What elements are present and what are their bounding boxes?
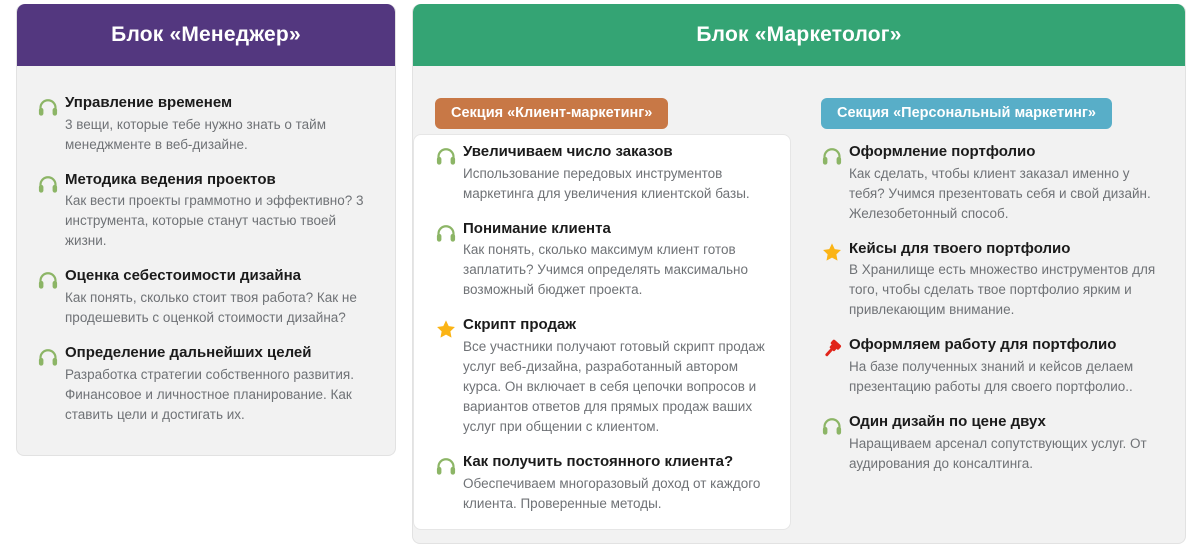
headphones-icon bbox=[435, 145, 463, 167]
lesson-item: Понимание клиентаКак понять, сколько мак… bbox=[435, 220, 775, 301]
headphones-icon bbox=[435, 222, 463, 244]
lesson-text: Кейсы для твоего портфолиоВ Хранилище ес… bbox=[849, 240, 1161, 321]
marketer-block-header: Блок «Маркетолог» bbox=[413, 4, 1185, 66]
lesson-item: Как получить постоянного клиента?Обеспеч… bbox=[435, 453, 775, 514]
lesson-text: Как получить постоянного клиента?Обеспеч… bbox=[463, 453, 775, 514]
lesson-text: Определение дальнейших целейРазработка с… bbox=[65, 344, 373, 425]
lesson-text: Управление временем3 вещи, которые тебе … bbox=[65, 94, 373, 155]
section-tag-personal-marketing[interactable]: Секция «Персональный маркетинг» bbox=[821, 98, 1112, 129]
pin-icon bbox=[821, 338, 849, 360]
lesson-item: Методика ведения проектовКак вести проек… bbox=[37, 171, 373, 252]
lesson-description: Использование передовых инструментов мар… bbox=[463, 164, 775, 204]
headphones-icon bbox=[37, 96, 65, 118]
lesson-description: 3 вещи, которые тебе нужно знать о тайм … bbox=[65, 115, 373, 155]
lesson-text: Оценка себестоимости дизайнаКак понять, … bbox=[65, 267, 373, 328]
lesson-item: Оформление портфолиоКак сделать, чтобы к… bbox=[821, 143, 1161, 224]
lesson-title: Один дизайн по цене двух bbox=[849, 413, 1161, 432]
lesson-description: Как сделать, чтобы клиент заказал именно… bbox=[849, 164, 1161, 224]
lesson-description: В Хранилище есть множество инструментов … bbox=[849, 260, 1161, 320]
manager-block: Блок «Менеджер» Управление временем3 вещ… bbox=[16, 4, 396, 456]
headphones-icon bbox=[821, 145, 849, 167]
lesson-item: Увеличиваем число заказовИспользование п… bbox=[435, 143, 775, 204]
section-personal-marketing: Секция «Персональный маркетинг» Оформлен… bbox=[799, 76, 1185, 488]
lesson-description: Как вести проекты граммотно и эффективно… bbox=[65, 191, 373, 251]
personal-marketing-lesson-list: Оформление портфолиоКак сделать, чтобы к… bbox=[799, 129, 1185, 488]
headphones-icon bbox=[37, 173, 65, 195]
lesson-item: Скрипт продажВсе участники получают гото… bbox=[435, 316, 775, 437]
lesson-title: Определение дальнейших целей bbox=[65, 344, 373, 363]
marketer-block: Блок «Маркетолог» Секция «Клиент-маркети… bbox=[412, 4, 1186, 544]
lesson-item: Один дизайн по цене двухНаращиваем арсен… bbox=[821, 413, 1161, 474]
lesson-description: На базе полученных знаний и кейсов делае… bbox=[849, 357, 1161, 397]
lesson-title: Скрипт продаж bbox=[463, 316, 775, 335]
manager-lesson-list: Управление временем3 вещи, которые тебе … bbox=[17, 76, 395, 439]
star-icon bbox=[435, 318, 463, 340]
lesson-title: Как получить постоянного клиента? bbox=[463, 453, 775, 472]
lesson-title: Оформление портфолио bbox=[849, 143, 1161, 162]
lesson-description: Как понять, сколько максимум клиент гото… bbox=[463, 240, 775, 300]
section-client-marketing: Секция «Клиент-маркетинг» Увеличиваем чи… bbox=[413, 76, 799, 528]
lesson-item: Кейсы для твоего портфолиоВ Хранилище ес… bbox=[821, 240, 1161, 321]
lesson-text: Увеличиваем число заказовИспользование п… bbox=[463, 143, 775, 204]
lesson-title: Увеличиваем число заказов bbox=[463, 143, 775, 162]
section-tag-client-marketing[interactable]: Секция «Клиент-маркетинг» bbox=[435, 98, 668, 129]
lesson-description: Наращиваем арсенал сопутствующих услуг. … bbox=[849, 434, 1161, 474]
headphones-icon bbox=[37, 346, 65, 368]
manager-block-header: Блок «Менеджер» bbox=[17, 4, 395, 66]
lesson-text: Скрипт продажВсе участники получают гото… bbox=[463, 316, 775, 437]
manager-block-body: Управление временем3 вещи, которые тебе … bbox=[17, 66, 395, 451]
lesson-text: Оформление портфолиоКак сделать, чтобы к… bbox=[849, 143, 1161, 224]
lesson-title: Управление временем bbox=[65, 94, 373, 113]
lesson-text: Методика ведения проектовКак вести проек… bbox=[65, 171, 373, 252]
lesson-text: Оформляем работу для портфолиоНа базе по… bbox=[849, 336, 1161, 397]
lesson-item: Управление временем3 вещи, которые тебе … bbox=[37, 94, 373, 155]
marketer-sections: Секция «Клиент-маркетинг» Увеличиваем чи… bbox=[413, 76, 1185, 528]
lesson-title: Оформляем работу для портфолио bbox=[849, 336, 1161, 355]
lesson-item: Оформляем работу для портфолиоНа базе по… bbox=[821, 336, 1161, 397]
lesson-title: Кейсы для твоего портфолио bbox=[849, 240, 1161, 259]
marketer-block-body: Секция «Клиент-маркетинг» Увеличиваем чи… bbox=[413, 66, 1185, 540]
headphones-icon bbox=[37, 269, 65, 291]
lesson-description: Как понять, сколько стоит твоя работа? К… bbox=[65, 288, 373, 328]
star-icon bbox=[821, 242, 849, 264]
course-program-page: Блок «Менеджер» Управление временем3 вещ… bbox=[0, 0, 1202, 556]
lesson-description: Разработка стратегии собственного развит… bbox=[65, 365, 373, 425]
lesson-title: Понимание клиента bbox=[463, 220, 775, 239]
lesson-item: Определение дальнейших целейРазработка с… bbox=[37, 344, 373, 425]
lesson-title: Методика ведения проектов bbox=[65, 171, 373, 190]
lesson-item: Оценка себестоимости дизайнаКак понять, … bbox=[37, 267, 373, 328]
lesson-title: Оценка себестоимости дизайна bbox=[65, 267, 373, 286]
headphones-icon bbox=[821, 415, 849, 437]
lesson-text: Один дизайн по цене двухНаращиваем арсен… bbox=[849, 413, 1161, 474]
client-marketing-lesson-list: Увеличиваем число заказовИспользование п… bbox=[413, 129, 799, 528]
lesson-description: Все участники получают готовый скрипт пр… bbox=[463, 337, 775, 437]
headphones-icon bbox=[435, 455, 463, 477]
lesson-text: Понимание клиентаКак понять, сколько мак… bbox=[463, 220, 775, 301]
lesson-description: Обеспечиваем многоразовый доход от каждо… bbox=[463, 474, 775, 514]
